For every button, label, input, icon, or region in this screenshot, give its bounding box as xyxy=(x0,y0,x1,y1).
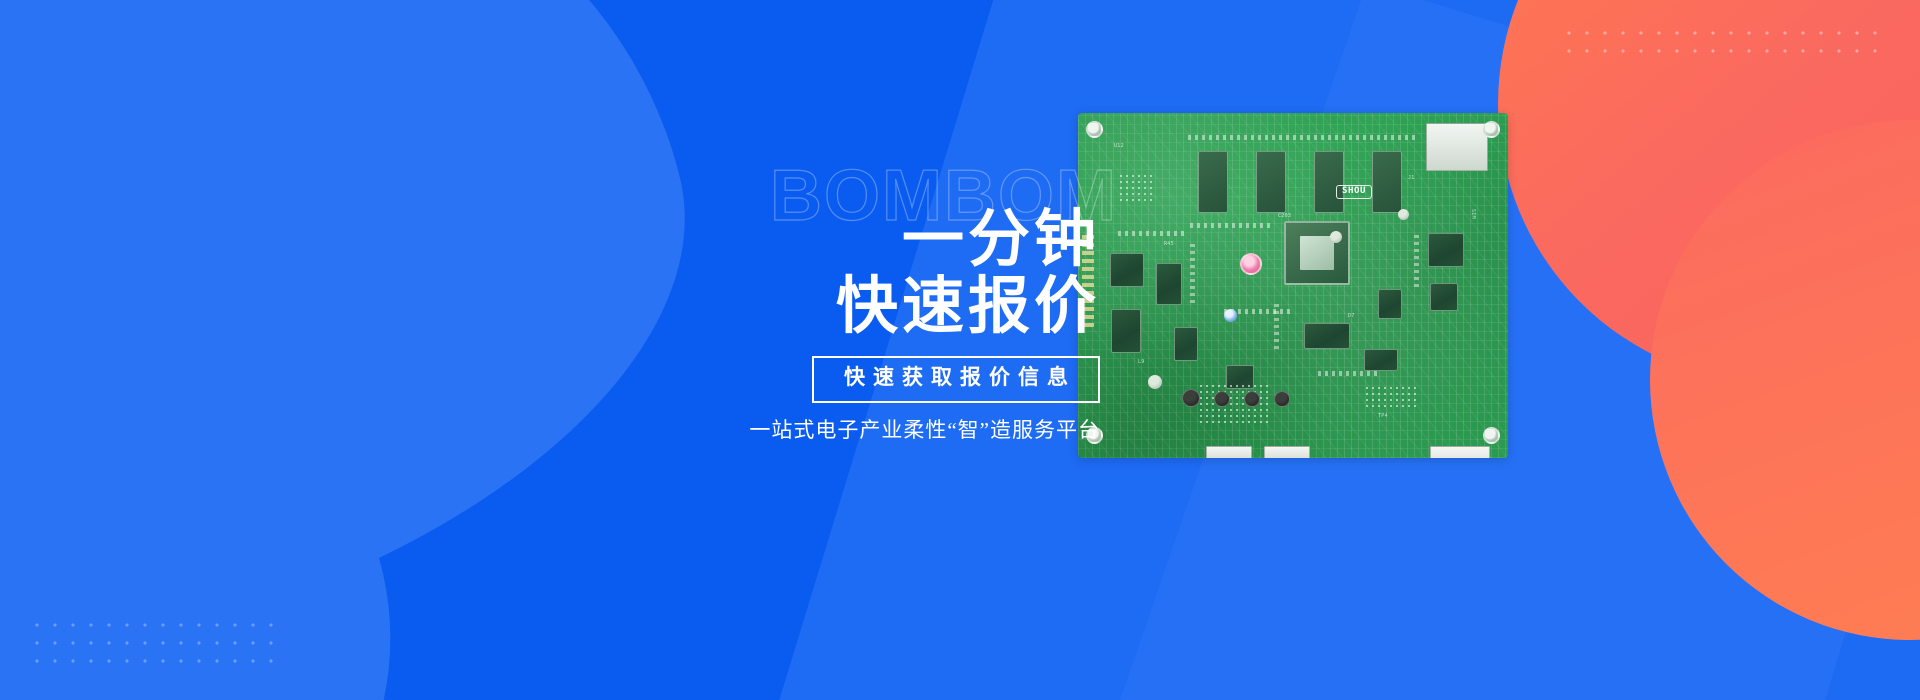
pcb-substrate: SHOU U12 R45 C203 J1 SIM D7 L9 TP4 xyxy=(1078,113,1508,458)
banner-tagline: 一站式电子产业柔性“智”造服务平台 xyxy=(680,417,1100,444)
page-title: 一分钟 快速报价 xyxy=(680,208,1100,338)
pcb-chip xyxy=(1256,151,1286,213)
headline-line-2: 快速报价 xyxy=(680,275,1100,338)
pcb-smd-row xyxy=(1188,135,1418,140)
pcb-bga-field xyxy=(1198,383,1272,423)
pcb-chip xyxy=(1174,327,1198,361)
pcb-board-image: SHOU U12 R45 C203 J1 SIM D7 L9 TP4 xyxy=(1078,113,1508,458)
pcb-smd-row xyxy=(1190,223,1270,228)
pcb-chip xyxy=(1198,151,1228,213)
pcb-io-tab xyxy=(1430,446,1490,458)
pcb-mount-hole xyxy=(1086,121,1103,138)
pcb-mount-hole xyxy=(1483,121,1500,138)
pcb-chip xyxy=(1111,309,1141,353)
pcb-chip xyxy=(1430,283,1458,311)
get-quote-button[interactable]: 快速获取报价信息 xyxy=(812,356,1100,402)
pcb-smd-row xyxy=(1318,371,1378,376)
pcb-bga-field xyxy=(1364,385,1416,411)
headline-line-1: 一分钟 xyxy=(680,208,1100,271)
pcb-smd-column xyxy=(1190,243,1195,303)
pcb-capacitor xyxy=(1398,209,1409,220)
pcb-chip xyxy=(1156,263,1182,305)
dot-grid-bottom-left xyxy=(28,616,278,674)
pcb-chip xyxy=(1428,233,1464,267)
pcb-chip xyxy=(1304,323,1350,349)
pcb-capacitor xyxy=(1330,231,1342,243)
pcb-chip xyxy=(1378,289,1402,319)
pcb-audio-jack xyxy=(1274,391,1290,407)
pcb-blue-port xyxy=(1224,309,1237,322)
pcb-audio-jack xyxy=(1182,389,1200,407)
pcb-processor-die xyxy=(1300,236,1335,270)
pcb-pink-port xyxy=(1240,253,1262,275)
pcb-silk-label: D7 xyxy=(1348,313,1355,319)
pcb-capacitor xyxy=(1148,375,1162,389)
pcb-audio-jack xyxy=(1214,391,1230,407)
pcb-smd-row xyxy=(1118,231,1188,236)
pcb-silk-label: R45 xyxy=(1164,241,1174,247)
pcb-chip xyxy=(1110,253,1144,287)
pcb-silk-label: L9 xyxy=(1138,359,1145,365)
pcb-smd-column xyxy=(1414,233,1419,287)
pcb-mount-hole xyxy=(1483,427,1500,444)
dot-grid-top-right xyxy=(1560,24,1890,64)
pcb-silk-label: J1 xyxy=(1408,175,1415,181)
pcb-brand-mark: SHOU xyxy=(1336,185,1372,199)
pcb-smd-column xyxy=(1274,303,1279,349)
pcb-bga-field xyxy=(1118,173,1152,203)
pcb-io-tab xyxy=(1264,446,1310,458)
pcb-audio-jack xyxy=(1244,391,1260,407)
pcb-processor xyxy=(1284,221,1350,285)
banner-copy-block: BOMBOM 一分钟 快速报价 快速获取报价信息 一站式电子产业柔性“智”造服务… xyxy=(680,160,1100,444)
promo-banner: SHOU U12 R45 C203 J1 SIM D7 L9 TP4 BOMBO… xyxy=(0,0,1920,700)
pcb-chip xyxy=(1372,151,1402,213)
pcb-silk-label: TP4 xyxy=(1378,413,1388,419)
pcb-card-connector xyxy=(1426,123,1488,171)
pcb-chip xyxy=(1364,349,1398,371)
pcb-chip xyxy=(1314,151,1344,213)
pcb-io-tab xyxy=(1206,446,1252,458)
pcb-silk-label: U12 xyxy=(1114,143,1124,149)
pcb-silk-label: SIM xyxy=(1470,209,1476,219)
pcb-silk-label: C203 xyxy=(1278,213,1291,219)
